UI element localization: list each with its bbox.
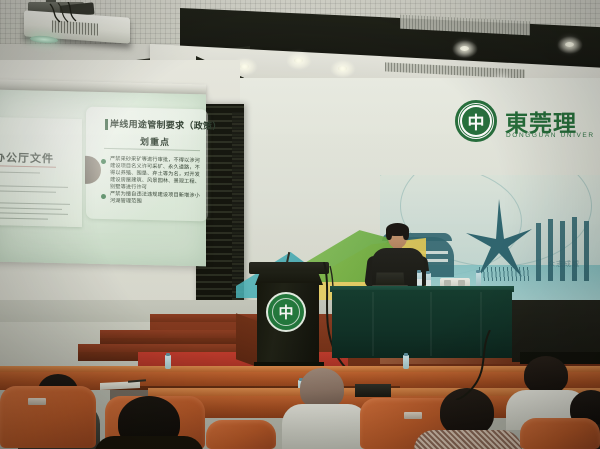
mural-pillar [572, 217, 577, 281]
water-bottle [476, 272, 481, 287]
wood-slat-panel-secondary [232, 112, 244, 312]
logo-glyph: 中 [468, 109, 485, 134]
slide-document-title: 办公厅文件 [0, 149, 78, 167]
speaking-podium: 中 [253, 262, 325, 370]
mural-pillar [548, 219, 553, 281]
university-logo: 中 [455, 100, 497, 142]
spotlight-glow [452, 40, 478, 58]
audience-shoulders [94, 436, 204, 449]
water-bottle [165, 355, 171, 369]
lecture-chair [206, 420, 276, 449]
bottle-cap [426, 271, 430, 274]
slide-bullet-marker [101, 194, 106, 199]
chair-number-plate [404, 412, 422, 419]
star-sculpture-icon [466, 199, 532, 277]
audience-shoulders [282, 404, 368, 449]
bottle-cap [166, 353, 170, 356]
speaker-hair-side-right [403, 228, 409, 240]
speaker-hair-side-left [386, 228, 392, 240]
table-skirt-fold [372, 292, 374, 356]
lecture-chair [0, 386, 96, 448]
slide-header-text: 岸线用途管制要求（政策） [110, 117, 222, 133]
mural-chinese-text: 众志成城 [548, 259, 580, 269]
spotlight-glow [286, 52, 312, 70]
bottle-cap [476, 270, 480, 273]
lecture-chair [520, 418, 600, 449]
mural-pillar [560, 221, 565, 281]
chair-number-plate [28, 398, 46, 405]
spotlight-glow [557, 36, 583, 54]
audience-head [524, 356, 568, 394]
bottle-cap [404, 353, 408, 356]
podium-university-crest: 中 [266, 292, 306, 332]
crest-glyph: 中 [278, 302, 293, 323]
mural-pillar [584, 221, 589, 281]
bottle-cap [417, 270, 421, 273]
university-english-name: DONGGUAN UNIVER [506, 132, 595, 139]
mural-pillar [536, 223, 541, 281]
slide-bullet-marker [101, 159, 106, 164]
water-bottle [403, 355, 409, 369]
slide-subheader-text: 划重点 [140, 135, 170, 149]
projector-cables [46, 2, 86, 24]
audience-laptop [355, 384, 391, 397]
table-skirt-fold [430, 292, 432, 356]
floor-cable-right [440, 330, 500, 400]
slide-title-accent-bar [105, 119, 108, 130]
audience-shoulders [414, 430, 522, 449]
bottle-label [417, 279, 422, 285]
audience-head [300, 368, 344, 408]
slide-bullet-text-2: 严禁为擅自违法违规建设项目新增涉小河湖管理范围 [110, 191, 202, 207]
lecture-hall-photograph: 办公厅文件 岸线用途管制要求（政策） 划重点 严禁采砂采矿等进行审批，不得以涉河… [0, 0, 600, 449]
slide-bullet-text-1: 严禁采砂采矿等进行审批，不得以涉河建设项目名义许可采矿、永久道路，不得以养殖、围… [110, 156, 202, 193]
spotlight-glow [330, 60, 356, 78]
mural-grass [476, 267, 530, 281]
